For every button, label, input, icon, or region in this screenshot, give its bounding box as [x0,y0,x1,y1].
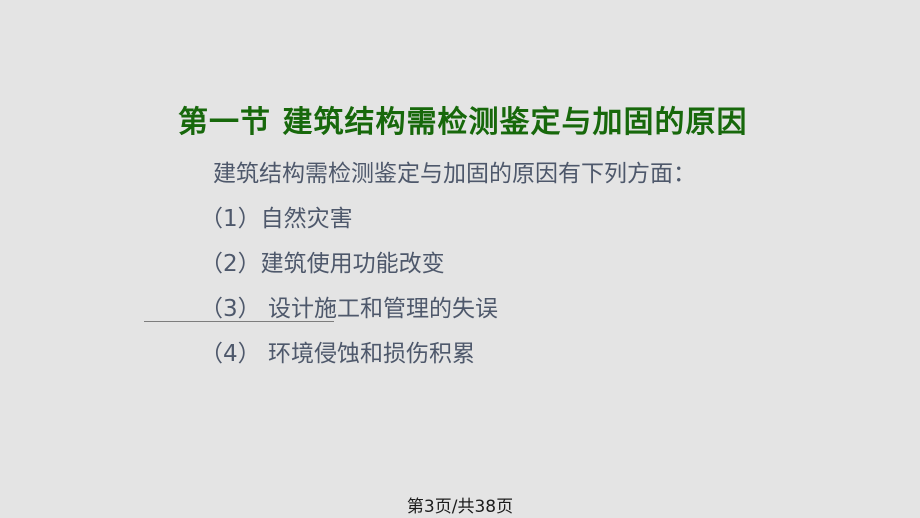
list-item: （4） 环境侵蚀和损伤积累 [0,332,920,377]
list-item: （3） 设计施工和管理的失误 [0,287,920,332]
list-item: （2）建筑使用功能改变 [0,242,920,287]
lead-paragraph: 建筑结构需检测鉴定与加固的原因有下列方面： [0,152,920,197]
body-content: 建筑结构需检测鉴定与加固的原因有下列方面： （1）自然灾害 （2）建筑使用功能改… [0,152,920,377]
horizontal-divider [144,321,334,322]
page-title: 第一节 建筑结构需检测鉴定与加固的原因 [178,103,747,143]
page-number-label: 第3页/共38页 [407,497,513,518]
list-item: （1）自然灾害 [0,197,920,242]
slide-footer: 第3页/共38页 [0,497,920,518]
slide-canvas: 第一节 建筑结构需检测鉴定与加固的原因 建筑结构需检测鉴定与加固的原因有下列方面… [0,0,920,518]
